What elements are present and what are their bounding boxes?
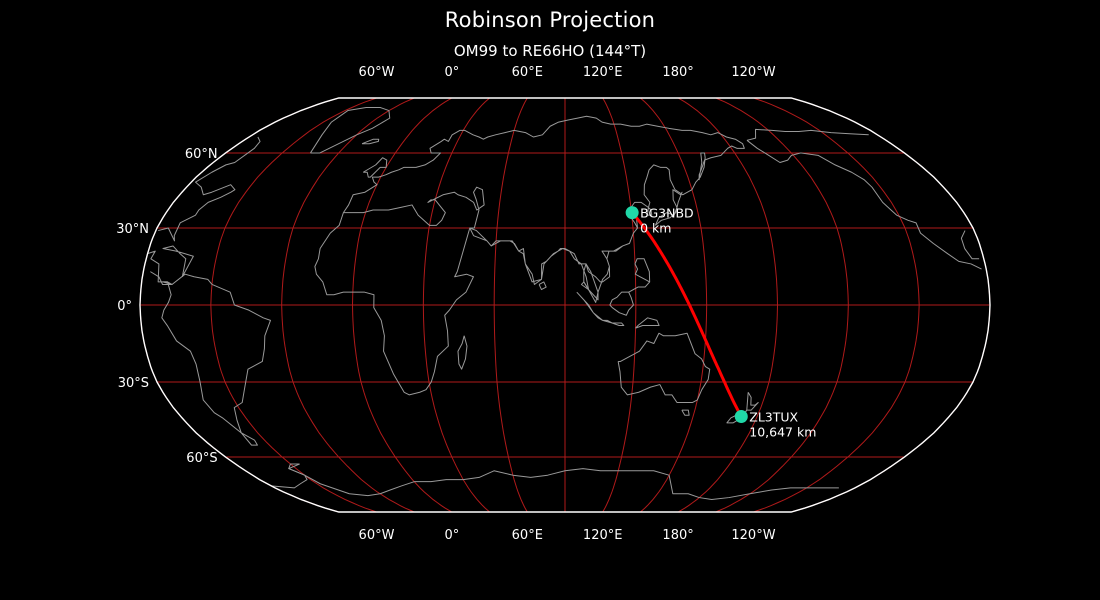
station-marker-zl3tux[interactable]: ZL3TUX10,647 km xyxy=(735,410,817,440)
lon-tick-top: 180° xyxy=(662,65,693,80)
graticule-layer xyxy=(140,98,990,512)
lon-tick-bottom: 60°W xyxy=(359,528,395,543)
lon-tick-top: 120°W xyxy=(731,65,775,80)
marker-distance-label: 10,647 km xyxy=(749,425,816,440)
coastline-path xyxy=(271,464,307,488)
lon-tick-bottom: 120°E xyxy=(583,528,623,543)
coastline-path xyxy=(162,274,271,445)
marker-distance-label: 0 km xyxy=(640,221,671,236)
great-circle-route xyxy=(632,213,741,417)
coastline-path xyxy=(747,140,982,269)
coastline-path xyxy=(539,282,546,290)
lat-tick: 0° xyxy=(117,299,132,314)
lon-tick-bottom: 0° xyxy=(445,528,460,543)
marker-callsign-label: ZL3TUX xyxy=(749,410,798,425)
lat-tick: 30°S xyxy=(118,376,149,391)
marker-dot[interactable] xyxy=(735,410,748,423)
coastline-path xyxy=(682,410,689,415)
lon-tick-top: 60°E xyxy=(512,65,543,80)
map-figure: Robinson Projection OM99 to RE66HO (144°… xyxy=(0,0,1100,600)
marker-dot[interactable] xyxy=(626,206,639,219)
axis-labels-layer: 0°60°E120°E180°120°W60°W0°60°E120°E180°1… xyxy=(116,65,775,543)
marker-callsign-label: BG3NBD xyxy=(640,206,694,221)
lat-tick: 60°S xyxy=(186,451,217,466)
lon-tick-bottom: 60°E xyxy=(512,528,543,543)
route-layer xyxy=(632,213,741,417)
coastline-path xyxy=(636,318,660,328)
robinson-map[interactable]: BG3NBD0 kmZL3TUX10,647 km 0°60°E120°E180… xyxy=(0,0,1100,600)
coastline-path xyxy=(458,336,467,369)
coastline-path xyxy=(289,464,839,499)
coastline-path xyxy=(629,259,650,292)
station-marker-bg3nbd[interactable]: BG3NBD0 km xyxy=(626,206,694,236)
lon-tick-top: 0° xyxy=(445,65,460,80)
coastline-path xyxy=(362,139,379,144)
coastline-path xyxy=(163,246,193,277)
lat-tick: 60°N xyxy=(185,147,218,162)
lon-tick-bottom: 180° xyxy=(662,528,693,543)
coastline-path xyxy=(747,129,869,140)
lon-tick-bottom: 120°W xyxy=(731,528,775,543)
lon-tick-top: 120°E xyxy=(583,65,623,80)
coastline-path xyxy=(363,158,387,177)
lat-tick: 30°N xyxy=(116,222,149,237)
coastline-path xyxy=(610,292,634,315)
coastline-path xyxy=(148,251,172,284)
lon-tick-top: 60°W xyxy=(359,65,395,80)
coastline-path xyxy=(310,108,389,153)
